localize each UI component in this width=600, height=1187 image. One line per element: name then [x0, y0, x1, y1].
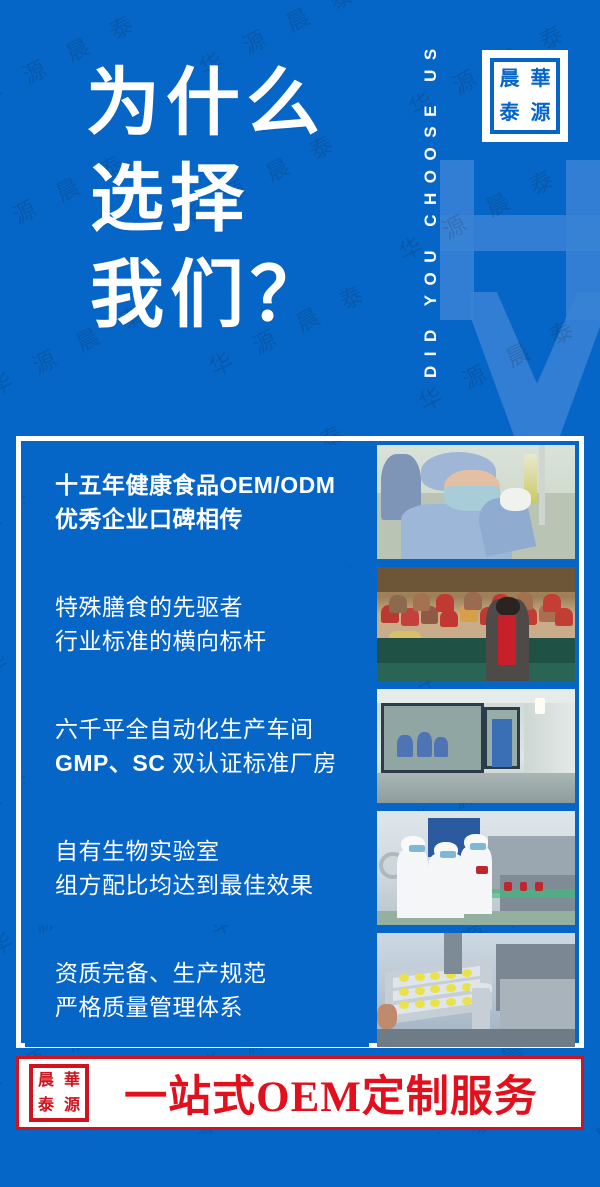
photo-conference-audience [377, 567, 575, 681]
title-line-3: 我们？ [90, 248, 330, 344]
feature-5-line-2: 严格质量管理体系 [55, 990, 369, 1024]
brand-seal-stamp: 晨 華 泰 源 [482, 50, 568, 142]
bottom-cta-text: 一站式OEM定制服务 [89, 1062, 581, 1124]
photo-white-coat-workers-line [377, 811, 575, 925]
page-title: 为什么 选择 我们？ [86, 56, 330, 344]
feature-2-line-2: 行业标准的横向标杆 [55, 624, 369, 658]
photo-cleanroom-corridor [377, 689, 575, 803]
feature-2-line-1: 特殊膳食的先驱者 [55, 590, 369, 624]
feature-3-line-2: GMP、SC 双认证标准厂房 [55, 746, 369, 780]
feature-row: 特殊膳食的先驱者 行业标准的横向标杆 [25, 567, 575, 681]
feature-5-line-1: 资质完备、生产规范 [55, 956, 369, 990]
poster-header: 为什么 选择 我们？ DID YOU CHOOSE US 晨 華 泰 源 [0, 0, 600, 432]
feature-row: 六千平全自动化生产车间 GMP、SC 双认证标准厂房 [25, 689, 575, 803]
seal-char-2: 華 [59, 1068, 85, 1093]
title-line-2: 选择 [90, 152, 330, 248]
seal-char-1: 晨 [494, 62, 525, 96]
features-frame: 十五年健康食品OEM/ODM 优秀企业口碑相传 特殊膳食的先驱者 行业标准的横向… [16, 436, 584, 1048]
seal-char-2: 華 [525, 62, 556, 96]
brand-seal-grid: 晨 華 泰 源 [490, 58, 560, 134]
feature-card-5[interactable]: 资质完备、生产规范 严格质量管理体系 [25, 933, 369, 1047]
feature-row: 十五年健康食品OEM/ODM 优秀企业口碑相传 [25, 445, 575, 559]
brand-seal-stamp-red: 晨 華 泰 源 [29, 1064, 89, 1122]
bottom-blue-strip [0, 1134, 600, 1187]
feature-1-line-2: 优秀企业口碑相传 [55, 502, 369, 536]
photo-lab-worker-filling-vial [377, 445, 575, 559]
feature-4-line-1: 自有生物实验室 [55, 834, 369, 868]
seal-char-3: 泰 [33, 1093, 59, 1118]
feature-card-3[interactable]: 六千平全自动化生产车间 GMP、SC 双认证标准厂房 [25, 689, 369, 803]
seal-char-3: 泰 [494, 96, 525, 130]
feature-card-4[interactable]: 自有生物实验室 组方配比均达到最佳效果 [25, 811, 369, 925]
seal-char-4: 源 [525, 96, 556, 130]
feature-3-line-1: 六千平全自动化生产车间 [55, 712, 369, 746]
photo-blister-packaging-machine [377, 933, 575, 1047]
feature-card-2[interactable]: 特殊膳食的先驱者 行业标准的横向标杆 [25, 567, 369, 681]
feature-1-line-1: 十五年健康食品OEM/ODM [55, 468, 369, 502]
vertical-english-subtitle: DID YOU CHOOSE US [399, 18, 441, 400]
poster-root: 华 源 晨 泰 华 源 晨 泰 华 源 晨 泰 华 源 晨 泰 华 源 晨 泰 … [0, 0, 600, 1187]
feature-card-1[interactable]: 十五年健康食品OEM/ODM 优秀企业口碑相传 [25, 445, 369, 559]
bottom-cta-banner[interactable]: 晨 華 泰 源 一站式OEM定制服务 [16, 1056, 584, 1130]
seal-char-4: 源 [59, 1093, 85, 1118]
feature-row: 资质完备、生产规范 严格质量管理体系 [25, 933, 575, 1047]
feature-row: 自有生物实验室 组方配比均达到最佳效果 [25, 811, 575, 925]
seal-char-1: 晨 [33, 1068, 59, 1093]
title-line-1: 为什么 [86, 56, 330, 152]
feature-4-line-2: 组方配比均达到最佳效果 [55, 868, 369, 902]
